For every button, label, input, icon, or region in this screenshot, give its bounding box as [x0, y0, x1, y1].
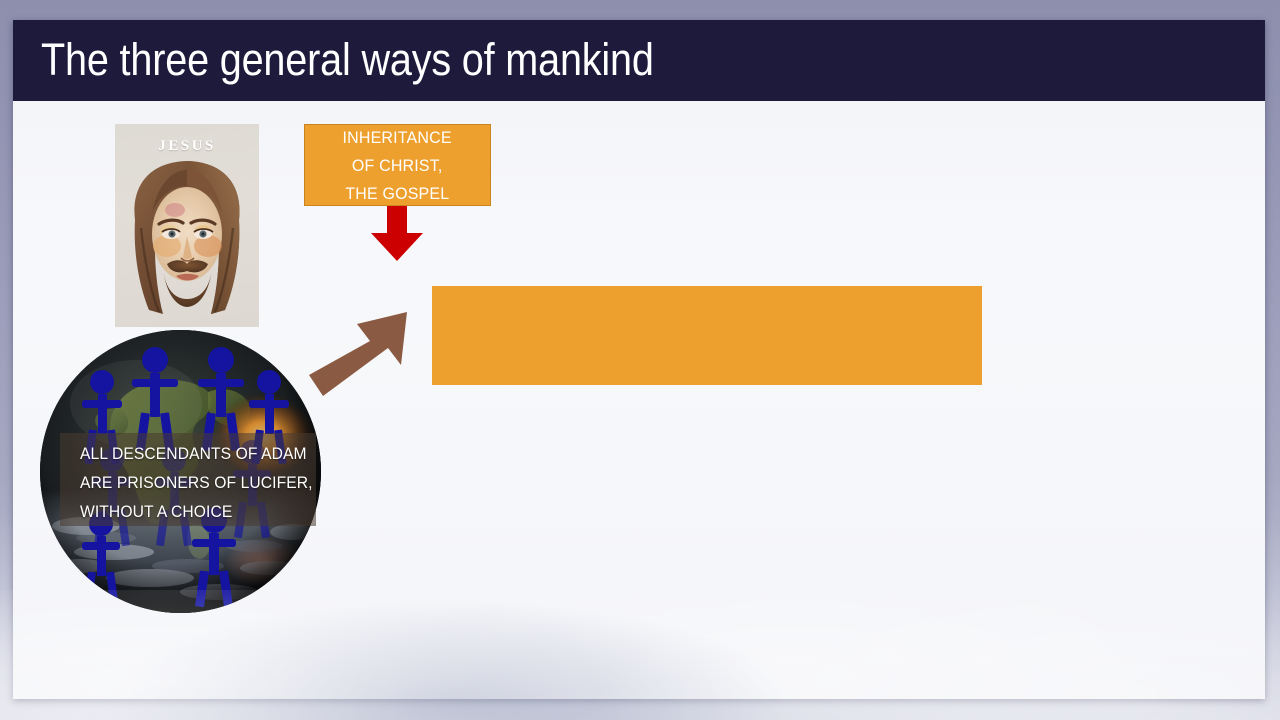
- globe-graphic: ALL DESCENDANTS OF ADAM ARE PRISONERS OF…: [40, 330, 321, 613]
- arrow-up-right-icon: [309, 304, 415, 396]
- globe-caption-line-1: ALL DESCENDANTS OF ADAM: [80, 439, 292, 468]
- jesus-portrait-image: Jesus: [115, 124, 259, 327]
- page-title-text: The three general ways of mankind: [41, 33, 654, 85]
- arrow-down-icon: [368, 206, 426, 262]
- page-title: The three general ways of mankind: [41, 33, 737, 85]
- globe-caption-line-2: ARE PRISONERS OF LUCIFER,: [80, 468, 292, 497]
- inheritance-line-3: THE GOSPEL: [345, 180, 449, 208]
- inheritance-line-1: INHERITANCE: [343, 124, 452, 152]
- main-orange-banner: [432, 286, 982, 385]
- globe-caption-band: ALL DESCENDANTS OF ADAM ARE PRISONERS OF…: [60, 433, 316, 526]
- slide-viewer-backdrop: The three general ways of mankind: [0, 0, 1280, 720]
- globe-caption-line-3: WITHOUT A CHOICE: [80, 497, 292, 526]
- inheritance-line-2: OF CHRIST,: [352, 152, 443, 180]
- slide-title-bar: The three general ways of mankind: [13, 20, 1265, 101]
- jesus-image-caption: Jesus: [115, 131, 259, 156]
- inheritance-of-christ-box: INHERITANCE OF CHRIST, THE GOSPEL: [304, 124, 491, 206]
- slide-canvas: The three general ways of mankind: [13, 20, 1265, 699]
